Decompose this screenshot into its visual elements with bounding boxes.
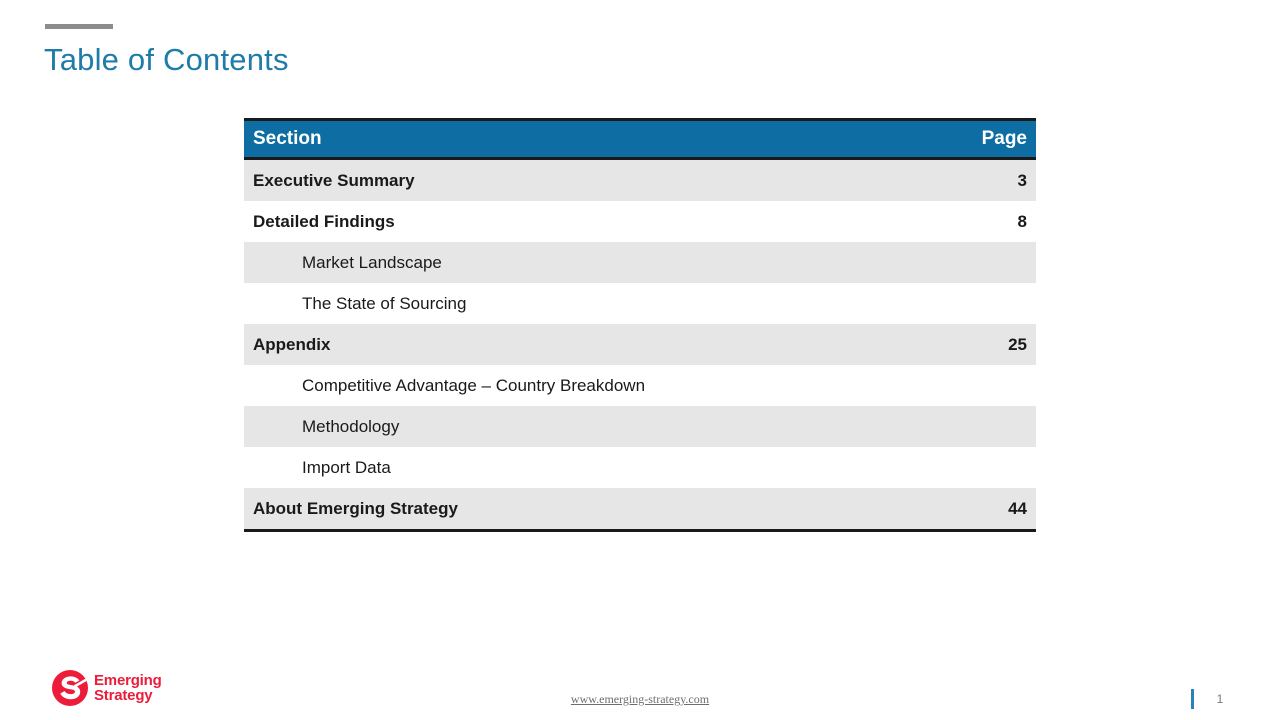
toc-row[interactable]: The State of Sourcing	[244, 283, 1036, 324]
toc-row[interactable]: Methodology	[244, 406, 1036, 447]
column-header-section: Section	[253, 128, 322, 150]
toc-row-page-number: 8	[1018, 212, 1027, 232]
toc-row[interactable]: About Emerging Strategy44	[244, 488, 1036, 529]
toc-row-label: Detailed Findings	[253, 212, 395, 232]
footer-website-link[interactable]: www.emerging-strategy.com	[0, 692, 1280, 707]
toc-row-page-number: 44	[1008, 499, 1027, 519]
toc-row[interactable]: Competitive Advantage – Country Breakdow…	[244, 365, 1036, 406]
toc-row-label: The State of Sourcing	[253, 294, 466, 314]
page-title: Table of Contents	[44, 42, 289, 78]
title-accent-rule	[45, 24, 113, 29]
toc-row-page-number: 25	[1008, 335, 1027, 355]
toc-row[interactable]: Appendix25	[244, 324, 1036, 365]
toc-row-label: Executive Summary	[253, 171, 415, 191]
toc-row[interactable]: Market Landscape	[244, 242, 1036, 283]
toc-row-label: About Emerging Strategy	[253, 499, 458, 519]
toc-body: Executive Summary3Detailed Findings8Mark…	[244, 160, 1036, 529]
page-number: 1	[1205, 692, 1235, 706]
logo-wordmark-line-1: Emerging	[94, 673, 162, 688]
toc-row-label: Methodology	[253, 417, 399, 437]
toc-row-label: Market Landscape	[253, 253, 442, 273]
column-header-page: Page	[982, 128, 1027, 150]
toc-row-label: Competitive Advantage – Country Breakdow…	[253, 376, 645, 396]
toc-row[interactable]: Executive Summary3	[244, 160, 1036, 201]
toc-row-label: Import Data	[253, 458, 391, 478]
toc-row[interactable]: Import Data	[244, 447, 1036, 488]
toc-row-label: Appendix	[253, 335, 330, 355]
toc-row[interactable]: Detailed Findings8	[244, 201, 1036, 242]
toc-header-row: Section Page	[244, 121, 1036, 160]
toc-row-page-number: 3	[1018, 171, 1027, 191]
table-of-contents: Section Page Executive Summary3Detailed …	[244, 118, 1036, 532]
page-number-separator	[1191, 689, 1194, 709]
